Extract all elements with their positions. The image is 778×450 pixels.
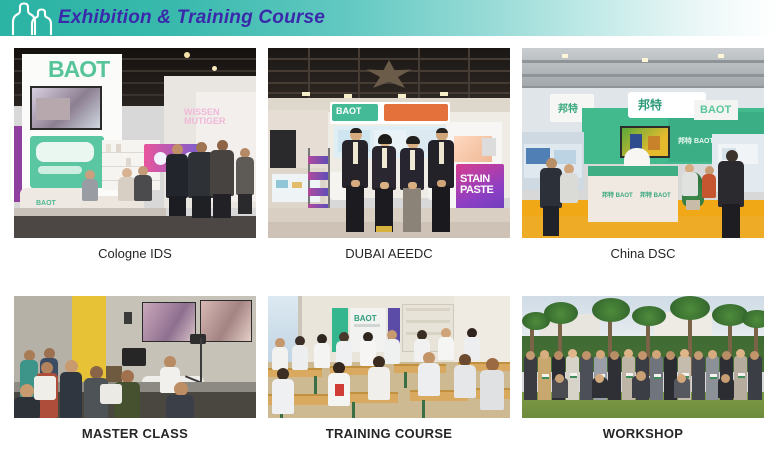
gallery-item-workshop[interactable]: WORKSHOP	[522, 296, 764, 441]
photo-master-class[interactable]	[14, 296, 256, 418]
row-spacer	[14, 261, 764, 296]
two-people-icon	[6, 0, 56, 36]
caption-dubai-aeedc: DUBAI AEEDC	[268, 238, 510, 261]
caption-workshop: WORKSHOP	[522, 418, 764, 441]
gallery-item-dubai-aeedc[interactable]: BAOT	[268, 48, 510, 261]
photo-china-dsc[interactable]: 邦特 邦特 BAOT 邦特 BAOT	[522, 48, 764, 238]
gallery-item-master-class[interactable]: MASTER CLASS	[14, 296, 256, 441]
photo-workshop[interactable]	[522, 296, 764, 418]
gallery-item-china-dsc[interactable]: 邦特 邦特 BAOT 邦特 BAOT	[522, 48, 764, 261]
caption-cologne-ids: Cologne IDS	[14, 238, 256, 261]
photo-dubai-aeedc[interactable]: BAOT	[268, 48, 510, 238]
page-header: Exhibition & Training Course	[0, 0, 778, 36]
caption-china-dsc: China DSC	[522, 238, 764, 261]
gallery-row-exhibitions: WISSENMUTIGER BAOT	[14, 48, 764, 261]
page-title: Exhibition & Training Course	[58, 0, 325, 36]
caption-master-class: MASTER CLASS	[14, 418, 256, 441]
photo-cologne-ids[interactable]: WISSENMUTIGER BAOT	[14, 48, 256, 238]
caption-training-course: TRAINING COURSE	[268, 418, 510, 441]
photo-training-course[interactable]: BAOT	[268, 296, 510, 418]
gallery-item-training-course[interactable]: BAOT	[268, 296, 510, 441]
gallery-item-cologne-ids[interactable]: WISSENMUTIGER BAOT	[14, 48, 256, 261]
gallery-row-training: MASTER CLASS BAOT	[14, 296, 764, 441]
gallery-grid: WISSENMUTIGER BAOT	[0, 36, 778, 441]
